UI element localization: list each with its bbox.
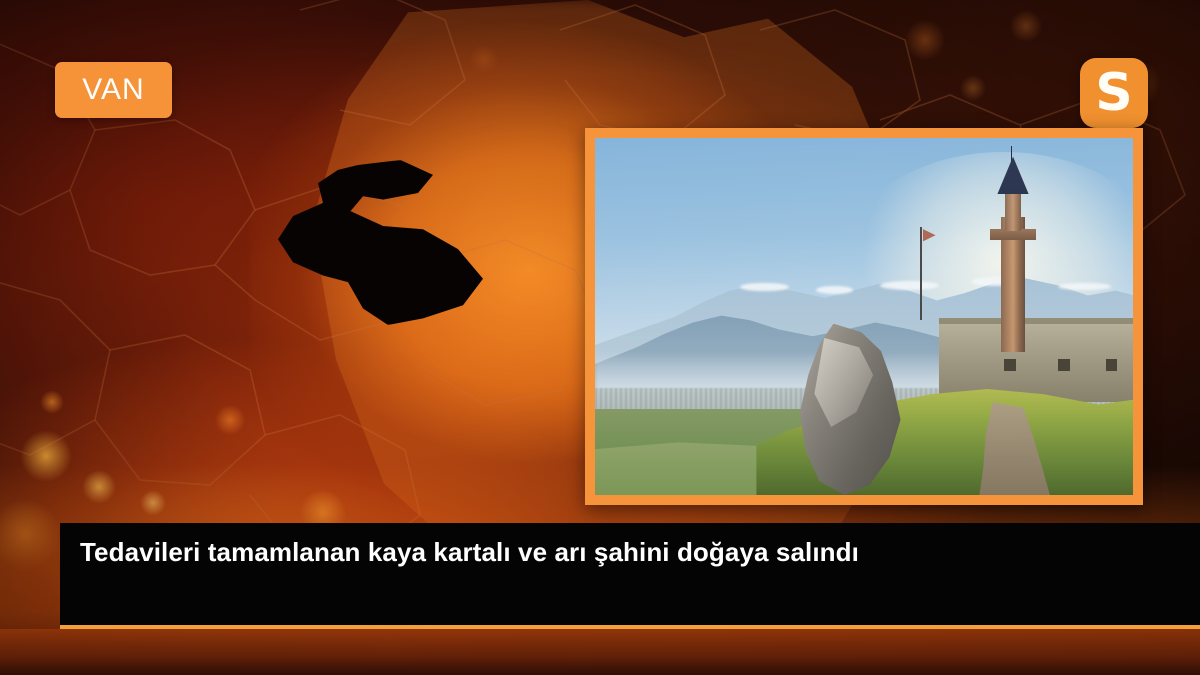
brand-logo-letter: S	[1095, 67, 1132, 119]
photo-frame	[585, 128, 1143, 505]
headline-bar: Tedavileri tamamlanan kaya kartalı ve ar…	[60, 523, 1200, 628]
province-badge: VAN	[55, 62, 172, 118]
province-badge-label: VAN	[82, 75, 144, 105]
news-card: VAN S	[0, 0, 1200, 675]
brand-logo[interactable]: S	[1080, 58, 1148, 128]
bottom-strip	[0, 629, 1200, 675]
headline: Tedavileri tamamlanan kaya kartalı ve ar…	[80, 535, 1180, 570]
news-photo	[595, 138, 1133, 495]
photo-shading	[595, 138, 1133, 495]
